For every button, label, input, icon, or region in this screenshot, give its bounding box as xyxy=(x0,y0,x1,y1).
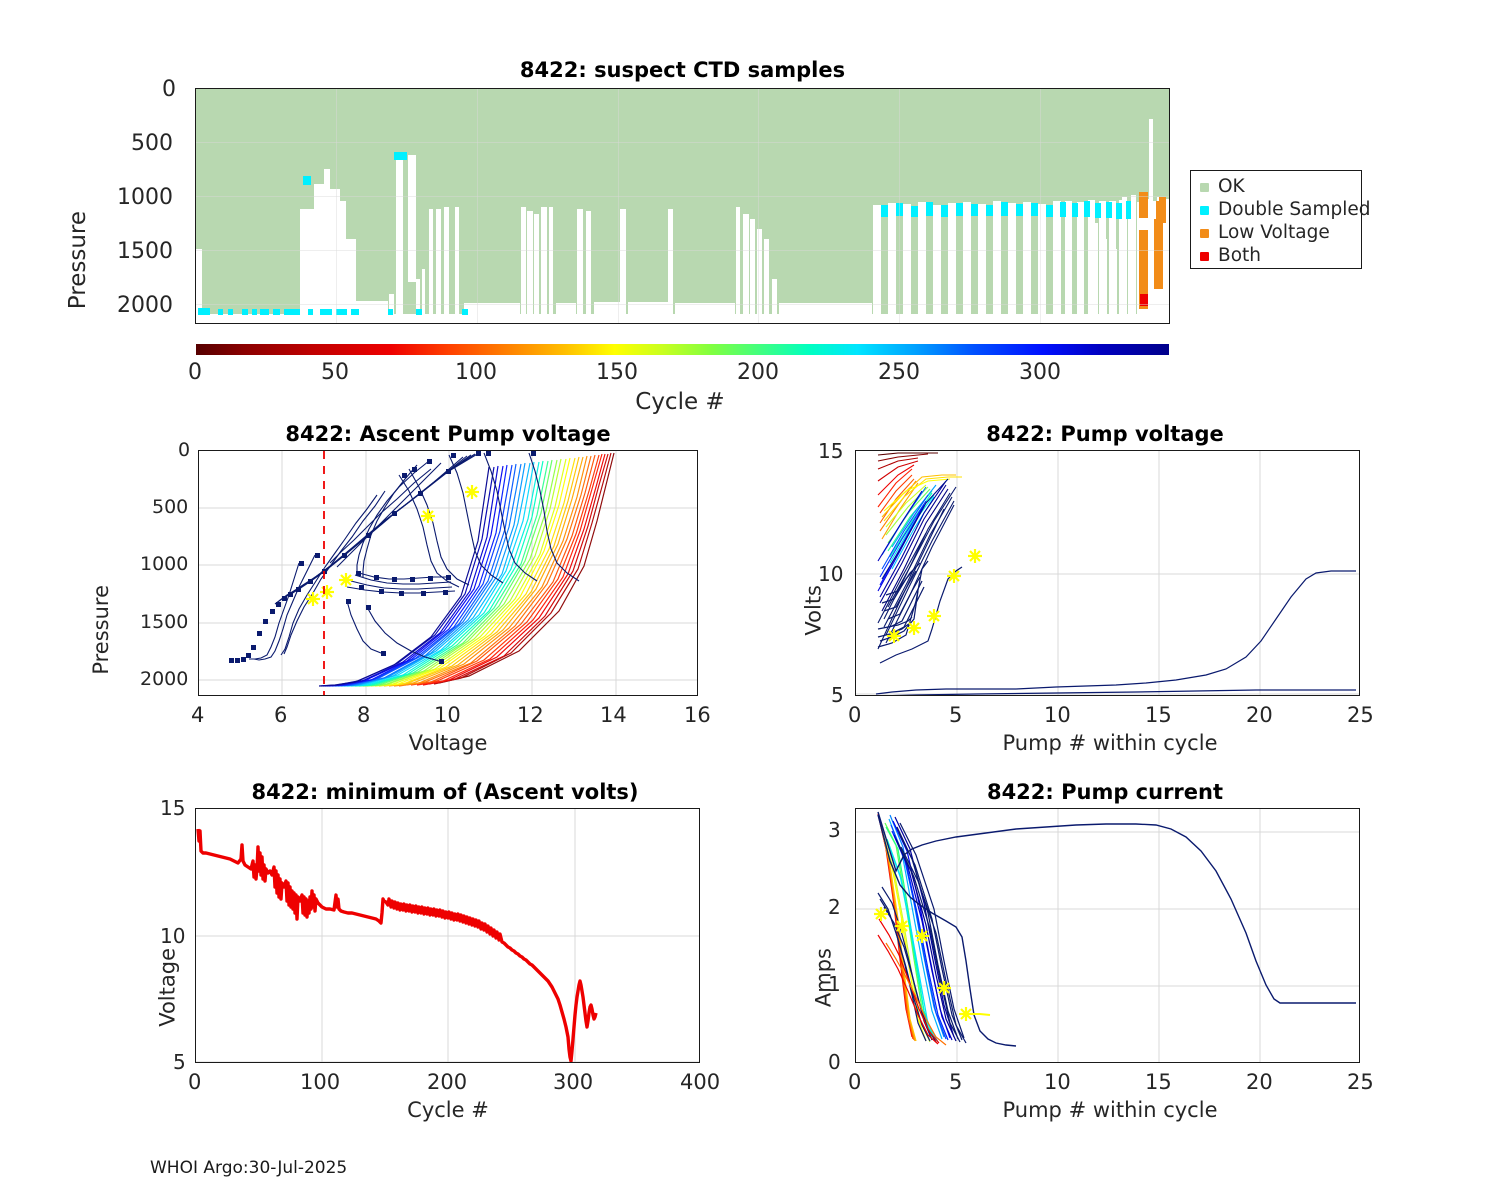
panel1-ylabel: Pressure xyxy=(65,211,91,309)
panel1-xtick-50: 50 xyxy=(321,360,349,385)
panel4-ytick-10: 10 xyxy=(160,924,185,948)
panel1-canvas xyxy=(196,89,1170,324)
panel2-ytick-2000: 2000 xyxy=(140,668,188,690)
panel5-canvas xyxy=(856,809,1360,1063)
min-ascent-volts-trace xyxy=(198,829,596,1061)
panel1-gridline-500 xyxy=(196,142,1169,143)
panel2-xtick-10: 10 xyxy=(434,703,461,727)
panel3-ytick-5: 5 xyxy=(831,683,844,707)
legend-label-low-voltage: Low Voltage xyxy=(1218,224,1330,243)
panel5-xtick-10: 10 xyxy=(1044,1070,1071,1094)
panel1-xtick-0: 0 xyxy=(188,360,202,385)
panel5-ytick-3: 3 xyxy=(828,818,841,842)
panel5-ytick-2: 2 xyxy=(828,895,841,919)
panel3-xtick-15: 15 xyxy=(1145,703,1172,727)
panel5-ylabel: Amps xyxy=(812,948,836,1007)
panel1-xtick-300: 300 xyxy=(1019,360,1061,385)
panel5-xtick-0: 0 xyxy=(848,1070,861,1094)
panel1-plot-area xyxy=(195,88,1170,324)
panel5-xlabel: Pump # within cycle xyxy=(980,1098,1240,1122)
panel1-gridline-x300 xyxy=(1040,89,1041,323)
panel1-gridline-x100 xyxy=(477,89,478,323)
panel5-plot-area xyxy=(855,808,1360,1063)
panel2-xtick-8: 8 xyxy=(357,703,370,727)
panel1-gridline-x50 xyxy=(336,89,337,323)
panel3-xtick-10: 10 xyxy=(1044,703,1071,727)
legend-label-ok: OK xyxy=(1218,178,1245,197)
panel1-gridline-x150 xyxy=(618,89,619,323)
legend-label-both: Both xyxy=(1218,247,1261,266)
panel1-gridline-x250 xyxy=(899,89,900,323)
panel2-xtick-12: 12 xyxy=(517,703,544,727)
panel1-gridline-2000 xyxy=(196,304,1169,305)
panel5-title: 8422: Pump current xyxy=(855,780,1355,804)
panel4-ylabel: Voltage xyxy=(155,948,179,1027)
panel4-xtick-200: 200 xyxy=(427,1070,467,1094)
panel1-ytick-1500: 1500 xyxy=(117,239,173,264)
panel1-xtick-150: 150 xyxy=(596,360,638,385)
panel1-ytick-500: 500 xyxy=(131,131,173,156)
panel1-gridline-1500 xyxy=(196,250,1169,251)
panel3-xtick-20: 20 xyxy=(1246,703,1273,727)
panel2-ytick-1500: 1500 xyxy=(140,611,188,633)
panel5-xtick-25: 25 xyxy=(1347,1070,1374,1094)
legend-swatch-both xyxy=(1200,252,1209,261)
panel5-xtick-5: 5 xyxy=(949,1070,962,1094)
panel2-xtick-4: 4 xyxy=(191,703,204,727)
panel2-ytick-0: 0 xyxy=(178,439,190,461)
panel1-ytick-0: 0 xyxy=(162,77,176,102)
legend-swatch-double-sampled xyxy=(1200,206,1209,215)
panel2-xtick-16: 16 xyxy=(684,703,711,727)
panel2-canvas xyxy=(199,451,698,696)
panel2-title: 8422: Ascent Pump voltage xyxy=(198,422,698,446)
panel1-xtick-250: 250 xyxy=(878,360,920,385)
legend: OK Double Sampled Low Voltage Both xyxy=(1190,170,1362,269)
panel4-xtick-100: 100 xyxy=(300,1070,340,1094)
panel5-ytick-0: 0 xyxy=(828,1050,841,1074)
panel2-plot-area xyxy=(198,450,698,696)
panel1-colorbar xyxy=(196,344,1169,355)
panel4-ytick-15: 15 xyxy=(160,796,185,820)
legend-item-low-voltage[interactable]: Low Voltage xyxy=(1200,224,1330,243)
panel4-canvas xyxy=(196,809,700,1063)
panel4-plot-area xyxy=(195,808,700,1063)
panel3-xtick-5: 5 xyxy=(949,703,962,727)
panel3-title: 8422: Pump voltage xyxy=(855,422,1355,446)
panel1-xtick-200: 200 xyxy=(737,360,779,385)
panel1-gridline-1000 xyxy=(196,196,1169,197)
legend-item-both[interactable]: Both xyxy=(1200,247,1261,266)
panel2-ylabel: Pressure xyxy=(89,585,113,675)
panel4-title: 8422: minimum of (Ascent volts) xyxy=(175,780,715,804)
panel3-xtick-0: 0 xyxy=(848,703,861,727)
panel3-ytick-10: 10 xyxy=(818,562,843,586)
panel2-xlabel: Voltage xyxy=(368,731,528,755)
panel5-xtick-20: 20 xyxy=(1246,1070,1273,1094)
legend-swatch-ok xyxy=(1200,183,1209,192)
legend-swatch-low-voltage xyxy=(1200,229,1209,238)
panel3-ytick-15: 15 xyxy=(818,439,843,463)
panel5-xtick-15: 15 xyxy=(1145,1070,1172,1094)
panel3-xtick-25: 25 xyxy=(1347,703,1374,727)
legend-item-double-sampled[interactable]: Double Sampled xyxy=(1200,201,1371,220)
panel1-xlabel: Cycle # xyxy=(560,389,800,415)
panel1-title: 8422: suspect CTD samples xyxy=(195,58,1170,82)
footer-credit: WHOI Argo:30-Jul-2025 xyxy=(150,1158,347,1178)
panel2-xtick-6: 6 xyxy=(274,703,287,727)
panel4-xtick-400: 400 xyxy=(680,1070,720,1094)
panel2-xtick-14: 14 xyxy=(600,703,627,727)
panel1-ytick-2000: 2000 xyxy=(117,293,173,318)
panel2-ytick-1000: 1000 xyxy=(140,553,188,575)
panel2-ytick-500: 500 xyxy=(152,496,188,518)
panel1-ytick-1000: 1000 xyxy=(117,185,173,210)
panel4-xtick-0: 0 xyxy=(188,1070,201,1094)
panel1-gridline-x200 xyxy=(758,89,759,323)
panel3-xlabel: Pump # within cycle xyxy=(980,731,1240,755)
legend-item-ok[interactable]: OK xyxy=(1200,178,1245,197)
panel4-xtick-300: 300 xyxy=(553,1070,593,1094)
panel3-canvas xyxy=(856,451,1360,696)
panel3-plot-area xyxy=(855,450,1360,696)
panel3-ylabel: Volts xyxy=(801,585,825,636)
panel1-xtick-100: 100 xyxy=(455,360,497,385)
legend-label-double-sampled: Double Sampled xyxy=(1218,201,1371,220)
panel4-xlabel: Cycle # xyxy=(368,1098,528,1122)
panel4-ytick-5: 5 xyxy=(173,1050,186,1074)
